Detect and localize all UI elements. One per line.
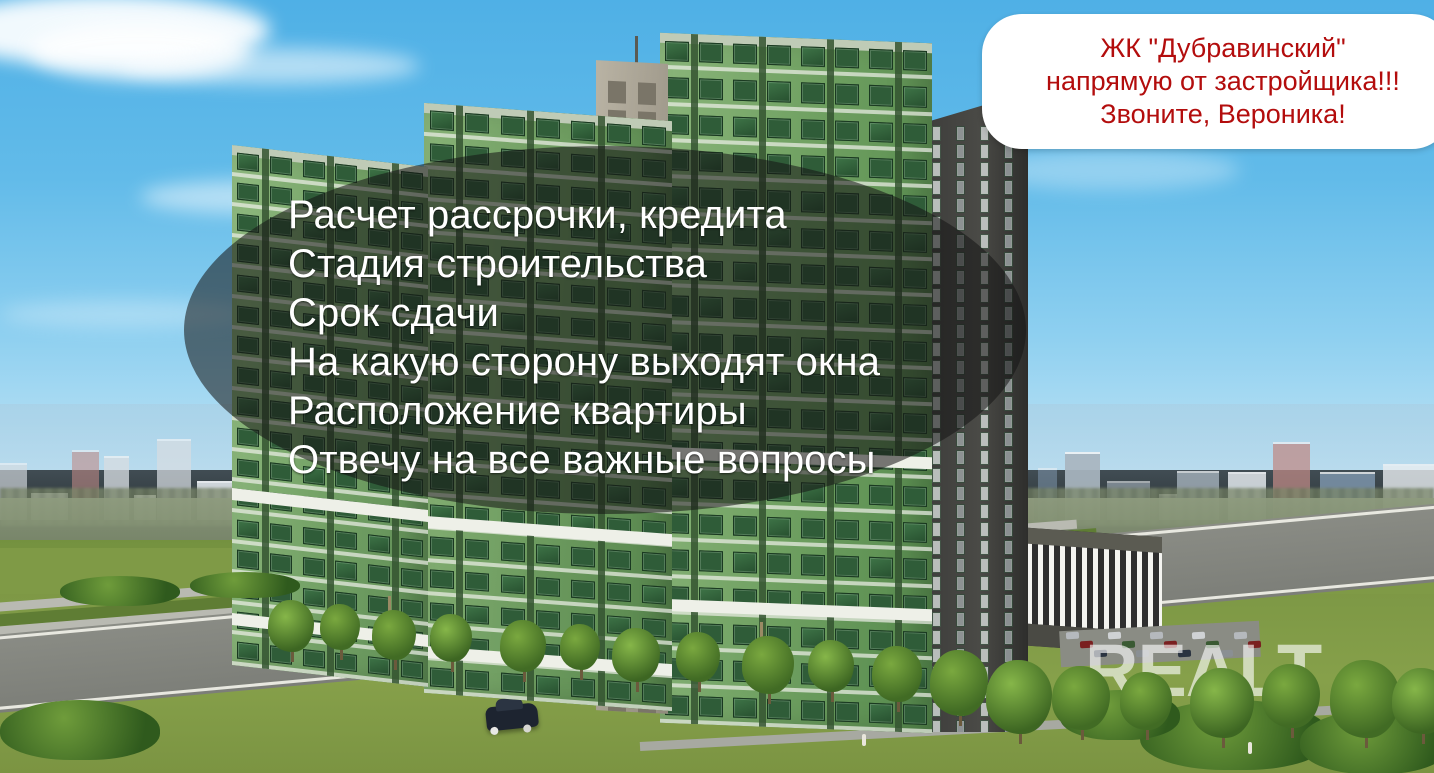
window (932, 486, 941, 501)
window (303, 588, 325, 608)
window (368, 534, 390, 554)
listing-photo: Расчет рассрочки, кредита Стадия строите… (0, 0, 1434, 773)
window (1004, 576, 1013, 591)
window (869, 158, 892, 179)
window (903, 86, 926, 107)
window (980, 162, 989, 177)
window (956, 486, 965, 501)
window (980, 540, 989, 555)
tree (560, 624, 600, 670)
window (335, 530, 357, 550)
window (303, 160, 325, 180)
window (430, 111, 454, 131)
window (869, 85, 892, 106)
window (932, 594, 941, 609)
tree (808, 640, 854, 692)
tree (986, 660, 1052, 734)
office-facade-fins (1016, 543, 1162, 633)
window (980, 594, 989, 609)
window (767, 81, 790, 102)
window (835, 156, 858, 177)
pedestrian (1248, 742, 1252, 754)
window (801, 700, 824, 721)
window (932, 630, 941, 645)
window (1004, 504, 1013, 519)
window (501, 673, 525, 693)
promo-line-2: Стадия строительства (288, 240, 1008, 289)
window (980, 612, 989, 627)
window (465, 113, 489, 133)
window (903, 559, 926, 580)
window (699, 42, 722, 63)
stairwell-window (638, 82, 656, 105)
window (956, 558, 965, 573)
window (270, 554, 292, 574)
window (869, 557, 892, 578)
tree (1120, 672, 1172, 730)
window (303, 649, 325, 669)
window (869, 521, 892, 542)
window (956, 504, 965, 519)
window (1004, 522, 1013, 537)
window (956, 594, 965, 609)
window (237, 519, 259, 539)
window (536, 118, 560, 138)
window (1004, 162, 1013, 177)
window (465, 539, 489, 559)
window (733, 552, 756, 573)
window (536, 676, 560, 696)
window (801, 518, 824, 539)
stairwell-window (608, 81, 626, 104)
window (536, 544, 560, 564)
window (733, 116, 756, 137)
tree (1262, 664, 1320, 728)
window (501, 542, 525, 562)
window (401, 538, 423, 558)
window (1004, 558, 1013, 573)
callout-line-3: Звоните, Вероника! (1046, 98, 1400, 131)
tree (320, 604, 360, 650)
tree (1052, 666, 1110, 730)
tree (268, 600, 314, 652)
window (903, 123, 926, 144)
tree (500, 620, 546, 672)
window (801, 119, 824, 140)
window (767, 517, 790, 538)
window (465, 572, 489, 592)
window (903, 159, 926, 180)
tree (612, 628, 660, 682)
window (903, 704, 926, 725)
window (733, 80, 756, 101)
window (536, 577, 560, 597)
window (303, 527, 325, 547)
window (767, 45, 790, 66)
pedestrian (862, 734, 866, 746)
window (980, 630, 989, 645)
window (465, 670, 489, 690)
window (835, 47, 858, 68)
window (665, 41, 688, 62)
window (401, 660, 423, 680)
window (980, 144, 989, 159)
promo-line-1: Расчет рассрочки, кредита (288, 191, 1008, 240)
window (237, 183, 259, 203)
window (835, 84, 858, 105)
promo-line-4: На какую сторону выходят окна (288, 338, 1008, 387)
window (642, 552, 666, 572)
window (801, 555, 824, 576)
tree (1190, 668, 1254, 738)
window (665, 77, 688, 98)
window (956, 540, 965, 555)
promo-line-5: Расположение квартиры (288, 387, 1008, 436)
window (1004, 540, 1013, 555)
window (932, 558, 941, 573)
window (335, 653, 357, 673)
window (869, 485, 892, 506)
window (430, 537, 454, 557)
window (980, 522, 989, 537)
window (801, 46, 824, 67)
window (237, 642, 259, 662)
window (335, 561, 357, 581)
promo-line-6: Отвечу на все важные вопросы (288, 436, 1008, 485)
window (699, 551, 722, 572)
window (1004, 486, 1013, 501)
window (801, 83, 824, 104)
window (932, 540, 941, 555)
tree (1330, 660, 1400, 738)
shrub (0, 700, 160, 760)
window (869, 702, 892, 723)
callout-line-1: ЖК "Дубравинский" (1046, 32, 1400, 65)
window (903, 50, 926, 71)
window (903, 486, 926, 507)
window (932, 126, 941, 141)
window (1004, 630, 1013, 645)
window (335, 163, 357, 183)
window (699, 79, 722, 100)
cloud (120, 48, 420, 84)
window (980, 576, 989, 591)
window (835, 483, 858, 504)
window (932, 162, 941, 177)
shrub (190, 572, 300, 598)
window (932, 144, 941, 159)
callout-line-2: напрямую от застройщика!!! (1046, 65, 1400, 98)
window (270, 523, 292, 543)
promo-line-3: Срок сдачи (288, 289, 1008, 338)
window (430, 569, 454, 589)
window (835, 556, 858, 577)
promo-text-block: Расчет рассрочки, кредита Стадия строите… (288, 191, 1008, 485)
window (835, 701, 858, 722)
window (1004, 594, 1013, 609)
window (956, 144, 965, 159)
tree (930, 650, 988, 716)
window (980, 504, 989, 519)
tree (676, 632, 720, 682)
window (932, 504, 941, 519)
window (571, 678, 595, 698)
window (368, 656, 390, 676)
window (607, 582, 631, 602)
window (699, 696, 722, 717)
window (270, 156, 292, 176)
window (642, 683, 666, 703)
parked-car (1066, 632, 1079, 640)
tree (742, 636, 794, 694)
window (607, 550, 631, 570)
window (956, 612, 965, 627)
tree (372, 610, 416, 660)
tree (430, 614, 472, 662)
window (368, 565, 390, 585)
window (869, 49, 892, 70)
shrub (60, 576, 180, 606)
window (401, 568, 423, 588)
window (571, 547, 595, 567)
window (733, 697, 756, 718)
window (835, 120, 858, 141)
window (237, 550, 259, 570)
window (932, 612, 941, 627)
window (699, 514, 722, 535)
window (767, 553, 790, 574)
window (767, 118, 790, 139)
window (980, 486, 989, 501)
callout-bubble-text: ЖК "Дубравинский" напрямую от застройщик… (1020, 32, 1414, 131)
window (571, 121, 595, 141)
window (571, 580, 595, 600)
window (501, 575, 525, 595)
window (501, 116, 525, 136)
window (956, 126, 965, 141)
window (699, 115, 722, 136)
window (956, 162, 965, 177)
window (642, 585, 666, 605)
window (835, 520, 858, 541)
window (465, 605, 489, 625)
window (607, 124, 631, 144)
window (932, 576, 941, 591)
tree (872, 646, 922, 702)
window (869, 121, 892, 142)
window (1004, 612, 1013, 627)
window (733, 516, 756, 537)
window (733, 44, 756, 65)
window (956, 630, 965, 645)
callout-bubble: ЖК "Дубравинский" напрямую от застройщик… (982, 14, 1434, 149)
window (932, 522, 941, 537)
window (303, 557, 325, 577)
window (980, 558, 989, 573)
window (903, 522, 926, 543)
window (237, 458, 259, 478)
window (607, 681, 631, 701)
window (237, 152, 259, 172)
window (956, 522, 965, 537)
window (956, 576, 965, 591)
window (642, 126, 666, 146)
